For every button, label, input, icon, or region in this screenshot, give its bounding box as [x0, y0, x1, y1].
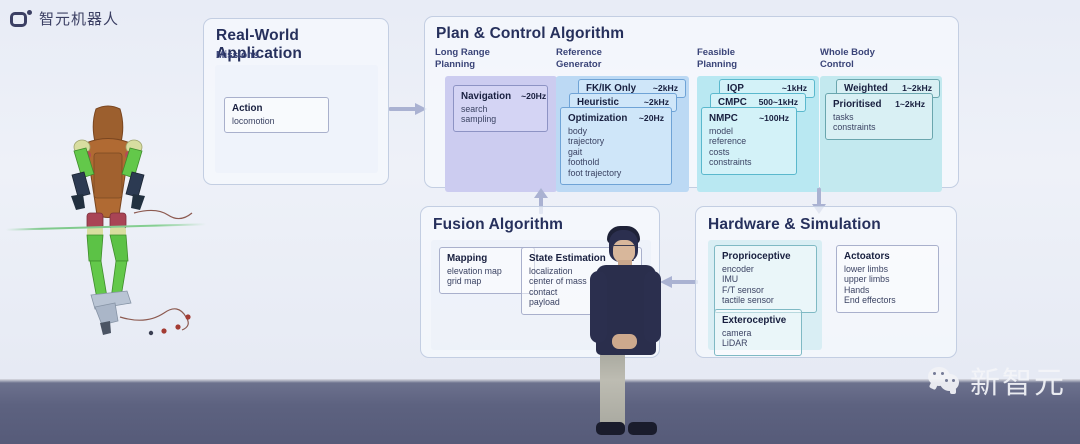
node-navigation-hz: ~20Hz	[511, 91, 546, 101]
node-mapping-item: grid map	[447, 276, 527, 286]
subhead-line2: Planning	[697, 59, 737, 70]
node-prioritised-item: tasks	[833, 112, 925, 122]
node-actoators-item: Hands	[844, 285, 931, 295]
column-feasible-planning: Feasible Planning IQP ~1kHz CMPC 500~1kH…	[697, 47, 827, 192]
node-prioritised-hz: 1~2kHz	[885, 99, 925, 109]
node-navigation-item: search	[461, 104, 540, 114]
group-whole-body-control: Weighted 1~2kHz Prioritised 1~2kHz tasks…	[820, 76, 942, 192]
subhead-missions: Missions	[216, 50, 259, 62]
column-reference-generator: Reference Generator FK/IK Only ~2kHz Heu…	[556, 47, 696, 192]
presenter-glasses	[611, 245, 637, 251]
subhead-line2: Generator	[556, 59, 601, 70]
group-reference-generator: FK/IK Only ~2kHz Heuristic ~2kHz Optimiz…	[556, 76, 689, 192]
node-optimization-item: foot trajectory	[568, 168, 664, 178]
node-proprioceptive-item: F/T sensor	[722, 285, 809, 295]
node-nmpc-item: constraints	[709, 157, 789, 167]
agibot-logo-icon	[10, 10, 32, 28]
node-proprioceptive-item: encoder	[722, 264, 809, 274]
brand-logo-text: 智元机器人	[39, 8, 119, 29]
node-weighted-hz: 1~2kHz	[892, 83, 932, 93]
subhead-whole-body-control: Whole Body Control	[820, 47, 955, 70]
presenter-leg-right	[627, 349, 652, 427]
node-prioritised[interactable]: Prioritised 1~2kHz tasks constraints	[825, 93, 933, 140]
presenter-arm-left	[590, 271, 607, 343]
node-heuristic-hz: ~2kHz	[634, 97, 669, 107]
node-mapping-name: Mapping	[447, 253, 487, 264]
subhead-line2: Planning	[435, 59, 475, 70]
panel-real-world-application: Real-World Application Missions Action l…	[203, 18, 389, 185]
subhead-long-range-planning: Long Range Planning	[435, 47, 555, 70]
wechat-icon	[928, 367, 962, 394]
node-action-name: Action	[232, 103, 262, 114]
node-action-item: locomotion	[232, 116, 321, 126]
node-nmpc-hz: ~100Hz	[749, 113, 789, 123]
stage-floor	[0, 379, 1080, 444]
node-nmpc-name: NMPC	[709, 113, 738, 124]
subhead-line1: Long Range	[435, 47, 490, 58]
node-exteroceptive[interactable]: Exteroceptive camera LiDAR	[714, 309, 802, 356]
subhead-line1: Reference	[556, 47, 602, 58]
node-nmpc-item: model	[709, 126, 789, 136]
node-navigation[interactable]: Navigation ~20Hz search sampling	[453, 85, 548, 132]
node-action[interactable]: Action locomotion	[224, 97, 329, 133]
node-prioritised-item: constraints	[833, 122, 925, 132]
column-whole-body-control: Whole Body Control Weighted 1~2kHz Prior…	[820, 47, 955, 192]
presenter-person	[572, 216, 680, 438]
node-optimization-name: Optimization	[568, 113, 627, 124]
node-fk-ik-only-hz: ~2kHz	[643, 83, 678, 93]
panel-title-plan-control: Plan & Control Algorithm	[436, 25, 624, 43]
group-long-range: Navigation ~20Hz search sampling	[445, 76, 557, 192]
subhead-feasible-planning: Feasible Planning	[697, 47, 827, 70]
node-proprioceptive[interactable]: Proprioceptive encoder IMU F/T sensor ta…	[714, 245, 817, 313]
node-proprioceptive-item: IMU	[722, 274, 809, 284]
node-proprioceptive-name: Proprioceptive	[722, 251, 791, 262]
robot-simulation-figure	[38, 95, 208, 345]
node-exteroceptive-name: Exteroceptive	[722, 315, 786, 326]
arrow-realworld-to-plan	[389, 103, 429, 115]
group-feasible-planning: IQP ~1kHz CMPC 500~1kHz NMPC ~100Hz	[697, 76, 819, 192]
presenter-leg-left	[600, 349, 625, 427]
node-navigation-item: sampling	[461, 114, 540, 124]
node-exteroceptive-item: camera	[722, 328, 794, 338]
panel-hardware-simulation: Hardware & Simulation Proprioceptive enc…	[695, 206, 957, 358]
node-nmpc-item: costs	[709, 147, 789, 157]
presenter-hands	[612, 334, 637, 349]
node-navigation-name: Navigation	[461, 91, 511, 102]
panel-plan-control-algorithm: Plan & Control Algorithm Long Range Plan…	[424, 16, 959, 188]
node-optimization-item: trajectory	[568, 136, 664, 146]
node-actoators-item: upper limbs	[844, 274, 931, 284]
subhead-line1: Whole Body	[820, 47, 875, 58]
watermark-text: 新智元	[970, 358, 1066, 402]
node-actoators-item: End effectors	[844, 295, 931, 305]
subhead-reference-generator: Reference Generator	[556, 47, 696, 70]
node-optimization[interactable]: Optimization ~20Hz body trajectory gait …	[560, 107, 672, 185]
node-mapping-item: elevation map	[447, 266, 527, 276]
presenter-shoe-right	[628, 422, 657, 435]
subhead-line1: Feasible	[697, 47, 735, 58]
column-long-range-planning: Long Range Planning Navigation ~20Hz sea…	[435, 47, 555, 192]
presenter-shoe-left	[596, 422, 625, 435]
node-nmpc-item: reference	[709, 136, 789, 146]
node-optimization-item: body	[568, 126, 664, 136]
node-iqp-hz: ~1kHz	[772, 83, 807, 93]
node-actoators[interactable]: Actoators lower limbs upper limbs Hands …	[836, 245, 939, 313]
channel-watermark: 新智元	[928, 358, 1066, 402]
subhead-line2: Control	[820, 59, 854, 70]
panel-title-hardware: Hardware & Simulation	[708, 216, 881, 234]
node-optimization-hz: ~20Hz	[629, 113, 664, 123]
node-prioritised-name: Prioritised	[833, 99, 881, 110]
presentation-stage: 智元机器人	[0, 0, 1080, 444]
brand-logo: 智元机器人	[10, 8, 119, 29]
presenter-arm-right	[644, 271, 661, 343]
node-optimization-item: gait	[568, 147, 664, 157]
floor-edge-highlight	[0, 379, 1080, 383]
node-proprioceptive-item: tactile sensor	[722, 295, 809, 305]
node-optimization-item: foothold	[568, 157, 664, 167]
node-nmpc[interactable]: NMPC ~100Hz model reference costs constr…	[701, 107, 797, 175]
node-actoators-item: lower limbs	[844, 264, 931, 274]
panel-title-fusion: Fusion Algorithm	[433, 216, 563, 234]
node-actoators-name: Actoators	[844, 251, 890, 262]
node-exteroceptive-item: LiDAR	[722, 338, 794, 348]
node-cmpc-hz: 500~1kHz	[749, 97, 798, 107]
